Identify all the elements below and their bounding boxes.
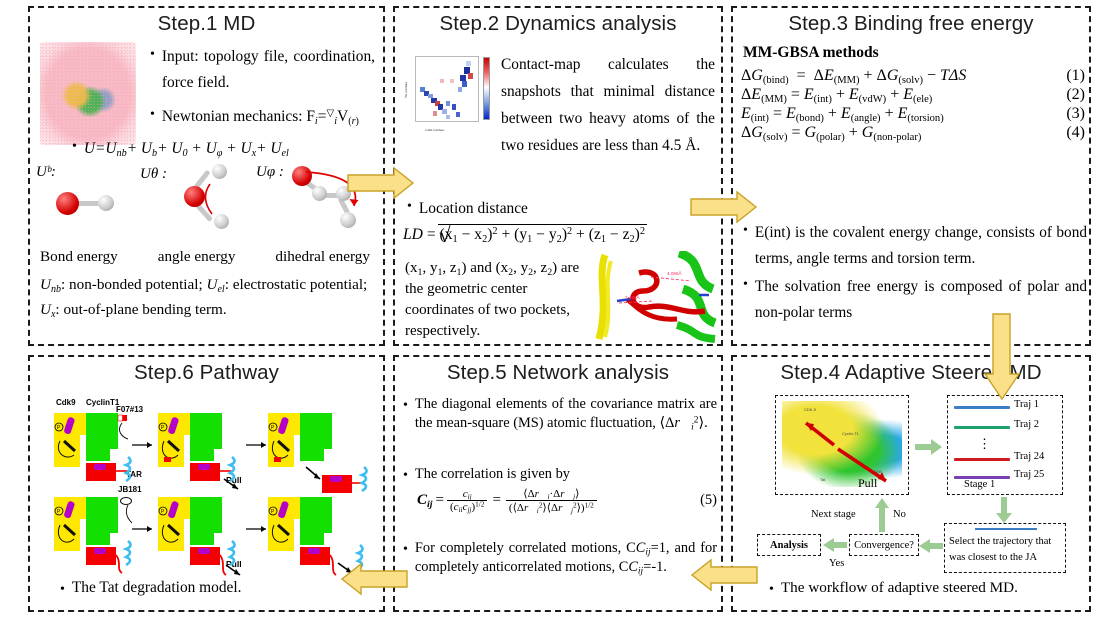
bond-energy-label: Bond energy — [40, 248, 118, 266]
label-tat: Tat — [820, 477, 826, 482]
equation-5-lhs-fraction: cij (ciicjj)1/2 — [447, 488, 487, 513]
step1-title: Step.1 MD — [30, 13, 383, 36]
step2-bullet-location-distance: Location distance — [419, 196, 707, 223]
equation-5: Cij = cij (ciicjj)1/2 = ⟨Δr⃗i·Δr⃗j⟩ (⟨Δr… — [417, 487, 717, 514]
select-trajectory-text: Select the trajectory that was closest t… — [949, 534, 1063, 567]
traj-24-label: Traj 24 — [1014, 451, 1044, 462]
equation-5-number: (5) — [700, 492, 717, 509]
angle-energy-diagram: Uθ : — [138, 164, 256, 240]
label-cyclint1: Cyclin-T1 — [842, 431, 860, 436]
step6-bullet-degradation: The Tat degradation model. — [72, 579, 370, 597]
md-simulation-box-image — [40, 42, 136, 145]
step2-coords-text: (x1, y1, z1) and (x2, y2, z2) are the ge… — [405, 258, 585, 342]
stage-label: Stage 1 — [964, 479, 995, 490]
contact-map-y-label: Tat residues — [404, 82, 408, 98]
bullet-icon: • — [72, 136, 84, 158]
arrow-select-to-convergence — [919, 539, 943, 558]
step1-definitions: Unb: non-bonded potential; Uel: electros… — [40, 272, 376, 323]
equation-4-number: (4) — [1066, 124, 1085, 142]
workflow-diagram: Step.1 MD • Input: topology file, coordi… — [0, 0, 1099, 618]
bullet-icon: • — [769, 579, 781, 601]
location-distance-formula: LD = (x1 − x2)2 + (y1 − y2)2 + (z1 − z2)… — [403, 224, 719, 244]
step5-title: Step.5 Network analysis — [395, 362, 721, 385]
bullet-icon: • — [743, 274, 755, 296]
equation-2-number: (2) — [1066, 86, 1085, 104]
bullet-icon: • — [403, 395, 415, 417]
traj-25-label: Traj 25 — [1014, 469, 1044, 480]
arrow-structure-to-trajectories — [915, 439, 943, 460]
panel-step2: Step.2 Dynamics analysis — [393, 6, 723, 346]
select-trajectory-box: Select the trajectory that was closest t… — [944, 523, 1066, 573]
arrow-step5-to-step6 — [340, 562, 408, 601]
ub-label: Uᵇ: — [36, 164, 56, 181]
angle-energy-label: angle energy — [158, 248, 236, 266]
no-label: No — [893, 509, 906, 520]
equation-2-body: ΔE(MM) = E(int) + E(vdW) + E(ele) — [741, 86, 1066, 104]
contact-map-colorbar — [483, 57, 490, 120]
steered-md-structure-box: CDK-9 Cyclin-T1 Tat TAR Pull — [775, 395, 909, 495]
equation-3: E(int) = E(bond) + E(angle) + E(torsion)… — [741, 105, 1085, 123]
step5-bullet-correlated-motions: For completely correlated motions, CCij=… — [415, 539, 717, 577]
equation-1-body: ΔG(bind) = ΔE(MM) + ΔG(solv) − TΔS — [741, 67, 1066, 85]
bond-energy-diagram: Uᵇ: — [34, 164, 142, 240]
contact-map-x-label: Cdk9 residues — [425, 128, 444, 132]
step1-potential-formula: U=Unb+ Ub+ U0 + Uφ + Ux+ Uel — [84, 136, 372, 162]
complex-c: P — [268, 413, 367, 493]
pull-label-step4: Pull — [858, 476, 877, 491]
bullet-icon: • — [403, 539, 415, 561]
ms-fluctuation-math: ⟨Δr⃗i2⟩. — [659, 415, 707, 431]
bullet-icon: • — [150, 44, 162, 66]
step1-bullet-input: Input: topology file, coordination, forc… — [162, 44, 375, 97]
dihedral-energy-label: dihedral energy — [275, 248, 370, 266]
complex-e: P — [158, 497, 266, 575]
bullet-icon: • — [403, 465, 415, 487]
contact-map-image: Cdk9 residues Tat residues — [403, 52, 495, 144]
analysis-box: Analysis — [757, 534, 821, 556]
svg-text:4.086Å: 4.086Å — [667, 270, 682, 276]
trajectories-box: Traj 1 Traj 2 ⋮ Traj 24 Traj 25 Stage 1 — [947, 395, 1063, 495]
trajectories-ellipsis: ⋮ — [978, 436, 991, 452]
selected-traj-line — [975, 528, 1037, 530]
bullet-icon: • — [150, 104, 162, 126]
step4-title: Step.4 Adaptive Steered MD — [733, 362, 1089, 385]
equation-2: ΔE(MM) = E(int) + E(vdW) + E(ele) (2) — [741, 86, 1085, 104]
label-cdk9: CDK-9 — [804, 407, 817, 412]
complex-d: P — [54, 497, 152, 573]
panel-step6: Step.6 Pathway Cdk9 CyclinT1 F07#13 Tat … — [28, 355, 385, 612]
complex-a: P — [54, 413, 152, 481]
step3-bullet-solvation: The solvation free energy is composed of… — [755, 274, 1087, 327]
panel-step1: Step.1 MD • Input: topology file, coordi… — [28, 6, 385, 346]
two-pockets-structure-image: 4.086Å 2.488Å — [587, 251, 719, 343]
panel-step5: Step.5 Network analysis • The diagonal e… — [393, 355, 723, 612]
label-cdk9: Cdk9 — [56, 398, 76, 407]
step3-title: Step.3 Binding free energy — [733, 13, 1089, 36]
mm-gbsa-subtitle: MM-GBSA methods — [743, 44, 1085, 62]
equation-5-rhs-fraction: ⟨Δr⃗i·Δr⃗j⟩ (⟨Δr⃗i2⟩⟨Δr⃗j2⟩)1/2 — [506, 487, 597, 514]
step4-bullet-workflow: The workflow of adaptive steered MD. — [781, 579, 1079, 597]
arrow-next-stage — [875, 498, 889, 537]
traj-1-line — [954, 406, 1010, 409]
traj-2-line — [954, 426, 1010, 429]
arrow-convergence-to-analysis — [823, 538, 847, 557]
arrow-step4-to-step5 — [690, 558, 758, 597]
svg-text:2.488Å: 2.488Å — [625, 294, 640, 300]
panel-step4: Step.4 Adaptive Steered MD CDK-9 Cyclin-… — [731, 355, 1091, 612]
next-stage-label: Next stage — [811, 509, 856, 520]
cdk9-cyclint1-tat-tar-image: CDK-9 Cyclin-T1 Tat TAR — [782, 401, 902, 487]
panel-step3: Step.3 Binding free energy MM-GBSA metho… — [731, 6, 1091, 346]
arrow-step1-to-step2 — [347, 166, 415, 205]
equation-1: ΔG(bind) = ΔE(MM) + ΔG(solv) − TΔS (1) — [741, 67, 1085, 85]
step3-bullet-eint: E(int) is the covalent energy change, co… — [755, 220, 1087, 273]
step5-b3c: =-1. — [643, 559, 667, 575]
step2-title: Step.2 Dynamics analysis — [395, 13, 721, 36]
equation-3-number: (3) — [1066, 105, 1085, 123]
step5-bullet-correlation: The correlation is given by — [415, 465, 717, 484]
equation-3-body: E(int) = E(bond) + E(angle) + E(torsion) — [741, 105, 1066, 123]
equation-4: ΔG(solv) = G(polar) + G(non-polar) (4) — [741, 124, 1085, 142]
step2-paragraph: Contact-map calculates the snapshots tha… — [501, 52, 715, 160]
step6-title: Step.6 Pathway — [30, 362, 383, 385]
equation-1-number: (1) — [1066, 67, 1085, 85]
complex-b: P — [158, 413, 266, 489]
traj-2-label: Traj 2 — [1014, 419, 1039, 430]
label-cyclint1: CyclinT1 — [86, 398, 119, 407]
yes-label: Yes — [829, 558, 844, 569]
bullet-icon: • — [60, 579, 72, 601]
step1-bullet-newtonian: Newtonian mechanics: Fi=▽iV(r) — [162, 104, 378, 130]
arrow-step3-to-step4 — [983, 313, 1021, 406]
traj-24-line — [954, 458, 1010, 461]
step5-b3a: For completely correlated motions, C — [415, 540, 636, 556]
arrow-step2-to-step3 — [690, 190, 758, 229]
step5-bullet-covariance: The diagonal elements of the covariance … — [415, 395, 717, 433]
convergence-box: Convergence? — [849, 534, 919, 556]
equation-4-body: ΔG(solv) = G(polar) + G(non-polar) — [741, 124, 1066, 142]
